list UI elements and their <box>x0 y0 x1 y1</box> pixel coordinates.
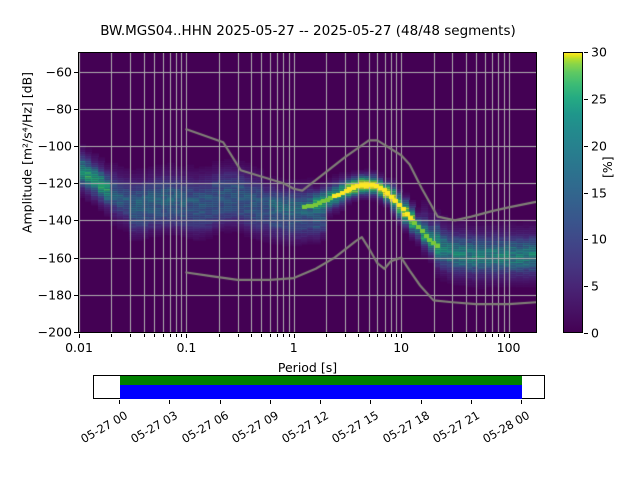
timeline-tick-label: 05-27 12 <box>270 408 331 451</box>
x-axis-minor-tick <box>176 334 177 337</box>
x-axis-minor-tick <box>130 334 131 337</box>
colorbar-tick <box>584 99 588 100</box>
x-axis-tick <box>186 334 187 338</box>
x-axis-tick-label: 0.1 <box>176 340 196 355</box>
x-axis-minor-tick <box>238 334 239 337</box>
x-axis-minor-tick <box>485 334 486 337</box>
colorbar-tick <box>584 193 588 194</box>
timeline-tick <box>220 400 221 404</box>
x-axis-minor-tick <box>345 334 346 337</box>
y-axis-tick <box>74 72 78 73</box>
data-coverage-timeline[interactable] <box>93 375 545 399</box>
x-axis-minor-tick <box>396 334 397 337</box>
y-axis-tick <box>74 109 78 110</box>
x-axis-tick-label: 10 <box>393 340 409 355</box>
x-axis-minor-tick <box>452 334 453 337</box>
x-axis-minor-tick <box>163 334 164 337</box>
timeline-tick-label: 05-27 00 <box>69 408 130 451</box>
x-axis-minor-tick <box>219 334 220 337</box>
x-axis-minor-tick <box>391 334 392 337</box>
timeline-tick <box>370 400 371 404</box>
colorbar-tick <box>584 146 588 147</box>
colorbar-tick <box>584 52 588 53</box>
y-axis-tick-label: −80 <box>46 101 72 116</box>
timeline-tick-label: 05-27 15 <box>321 408 382 451</box>
x-axis-tick <box>294 334 295 338</box>
y-axis-tick <box>74 332 78 333</box>
y-axis-label: Amplitude [m²/s⁴/Hz] [dB] <box>20 38 35 268</box>
timeline-tick <box>320 400 321 404</box>
x-axis-minor-tick <box>498 334 499 337</box>
colorbar-label: [%] <box>600 138 615 178</box>
psd-coverage-bar <box>120 376 522 385</box>
y-axis-tick <box>74 258 78 259</box>
colorbar-tick-label: 0 <box>591 326 599 341</box>
x-axis-minor-tick <box>144 334 145 337</box>
x-axis-minor-tick <box>377 334 378 337</box>
x-axis-minor-tick <box>170 334 171 337</box>
y-axis-tick <box>74 220 78 221</box>
timeline-tick <box>119 400 120 404</box>
ppsd-plot-area[interactable] <box>78 52 537 333</box>
x-axis-minor-tick <box>434 334 435 337</box>
timeline-tick-label: 05-28 00 <box>471 408 532 451</box>
x-axis-minor-tick <box>369 334 370 337</box>
y-axis-tick-label: −160 <box>38 250 72 265</box>
page-title: BW.MGS04..HHN 2025-05-27 -- 2025-05-27 (… <box>78 23 538 39</box>
y-axis-tick-label: −200 <box>38 325 72 340</box>
y-axis-tick <box>74 183 78 184</box>
y-axis-tick-label: −140 <box>38 213 72 228</box>
x-axis-minor-tick <box>154 334 155 337</box>
timeline-tick <box>270 400 271 404</box>
x-axis-minor-tick <box>270 334 271 337</box>
y-axis-tick <box>74 295 78 296</box>
x-axis-minor-tick <box>289 334 290 337</box>
x-axis-minor-tick <box>504 334 505 337</box>
timeline-tick <box>471 400 472 404</box>
mode-curve-layer <box>79 53 536 332</box>
x-axis-minor-tick <box>385 334 386 337</box>
x-axis-minor-tick <box>326 334 327 337</box>
x-axis-minor-tick <box>181 334 182 337</box>
colorbar-tick-label: 30 <box>591 45 607 60</box>
colorbar-tick <box>584 286 588 287</box>
colorbar-tick-label: 5 <box>591 279 599 294</box>
x-axis-tick-label: 100 <box>497 340 521 355</box>
y-axis-tick-label: −180 <box>38 287 72 302</box>
x-axis-minor-tick <box>466 334 467 337</box>
x-axis-minor-tick <box>261 334 262 337</box>
y-axis-tick-label: −60 <box>46 64 72 79</box>
x-axis-tick <box>401 334 402 338</box>
timeline-tick-label: 05-27 18 <box>371 408 432 451</box>
timeline-tick-label: 05-27 03 <box>120 408 181 451</box>
x-axis-label: Period [s] <box>78 360 537 375</box>
x-axis-minor-tick <box>277 334 278 337</box>
x-axis-tick <box>79 334 80 338</box>
timeline-tick-label: 05-27 09 <box>220 408 281 451</box>
colorbar-tick <box>584 333 588 334</box>
x-axis-minor-tick <box>251 334 252 337</box>
colorbar-tick-label: 25 <box>591 91 607 106</box>
colorbar-tick-label: 10 <box>591 232 607 247</box>
data-coverage-bar <box>120 385 522 399</box>
x-axis-minor-tick <box>492 334 493 337</box>
colorbar-tick <box>584 239 588 240</box>
x-axis-minor-tick <box>111 334 112 337</box>
x-axis-minor-tick <box>358 334 359 337</box>
y-axis-tick-label: −100 <box>38 139 72 154</box>
colorbar <box>563 52 583 333</box>
y-axis-tick-label: −120 <box>38 176 72 191</box>
timeline-tick-label: 05-27 06 <box>170 408 231 451</box>
x-axis-tick-label: 0.01 <box>65 340 93 355</box>
timeline-tick <box>169 400 170 404</box>
timeline-tick <box>421 400 422 404</box>
x-axis-minor-tick <box>476 334 477 337</box>
ppsd-figure: BW.MGS04..HHN 2025-05-27 -- 2025-05-27 (… <box>0 0 640 480</box>
x-axis-minor-tick <box>283 334 284 337</box>
timeline-tick <box>521 400 522 404</box>
timeline-tick-label: 05-27 21 <box>421 408 482 451</box>
x-axis-tick-label: 1 <box>290 340 298 355</box>
y-axis-tick <box>74 146 78 147</box>
colorbar-tick-label: 15 <box>591 185 607 200</box>
x-axis-tick <box>509 334 510 338</box>
